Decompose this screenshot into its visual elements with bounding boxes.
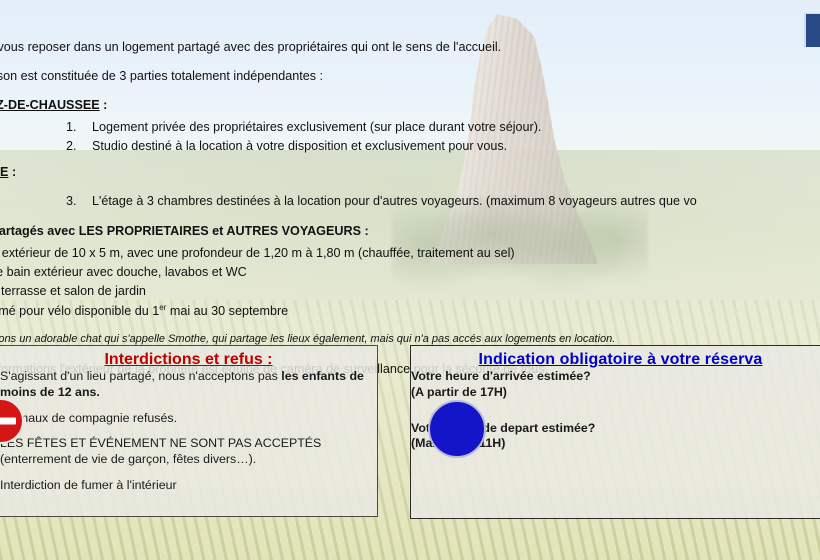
list-item-label: Interdiction de fumer à l'intérieur: [0, 478, 177, 492]
list-item: 3.L'étage à 3 chambres destinées à la lo…: [0, 194, 820, 213]
list-item-label: S'agissant d'un lieu partagé, nous n'acc…: [0, 369, 281, 383]
list-item-number: 1.: [66, 120, 92, 136]
ground-floor-heading-text: U REZ-DE-CHAUSSEE: [0, 98, 100, 112]
panel-interdictions: Interdictions et refus : S'agissant d'un…: [0, 345, 378, 517]
list-item-number: 2.: [66, 139, 92, 155]
list-item: Interdiction de fumer à l'intérieur: [0, 478, 377, 494]
body-copy: enez-vous reposer dans un logement parta…: [0, 40, 820, 384]
shared-item: iscine extérieur de 10 x 5 m, avec une p…: [0, 246, 820, 265]
upstairs-heading-colon: :: [8, 165, 16, 179]
panel-interdictions-title: Interdictions et refus :: [0, 346, 377, 369]
intro-line-2: a maison est constituée de 3 parties tot…: [0, 69, 820, 91]
shared-item-bike-shelter: bri fermé pour vélo disponible du 1er ma…: [0, 303, 820, 322]
panel-indication-title: Indication obligatoire à votre réserva: [411, 346, 820, 369]
shared-heading-strong: LES PROPRIETAIRES et AUTRES VOYAGEURS: [79, 224, 361, 238]
list-item: S'agissant d'un lieu partagé, nous n'acc…: [0, 369, 377, 401]
blue-circle-icon: [428, 400, 486, 458]
list-item-label: L'étage à 3 chambres destinées à la loca…: [92, 194, 697, 208]
list-item-label: Logement privée des propriétaires exclus…: [92, 120, 541, 134]
intro-line-1: enez-vous reposer dans un logement parta…: [0, 40, 820, 62]
slide-canvas: enez-vous reposer dans un logement parta…: [0, 0, 820, 560]
corner-accent-bar: [804, 13, 820, 47]
upstairs-heading: ETAGE :: [0, 165, 820, 187]
bike-shelter-pre: bri fermé pour vélo disponible du 1: [0, 304, 159, 318]
shared-heading-colon: :: [361, 224, 369, 238]
list-item: Animaux de compagnie refusés.: [0, 411, 377, 427]
list-item: Votre heure d'arrivée estimée? (A partir…: [411, 369, 820, 401]
shared-item: ardin, terrasse et salon de jardin: [0, 284, 820, 303]
shared-item: alle de bain extérieur avec douche, lava…: [0, 265, 820, 284]
ground-floor-heading-colon: :: [100, 98, 108, 112]
ground-floor-heading: U REZ-DE-CHAUSSEE :: [0, 98, 820, 120]
list-item-label: LES FÊTES ET ÉVÉNEMENT NE SONT PAS ACCEP…: [0, 436, 321, 466]
bike-shelter-post: mai au 30 septembre: [166, 304, 288, 318]
list-item-label: Studio destiné à la location à votre dis…: [92, 139, 507, 153]
shared-heading-prefix: eux partagés avec: [0, 224, 79, 238]
list-item-number: 3.: [66, 194, 92, 210]
list-item: 1.Logement privée des propriétaires excl…: [0, 120, 820, 139]
list-item-label: Animaux de compagnie refusés.: [0, 411, 177, 425]
list-item-subtext: (A partir de 17H): [411, 385, 507, 399]
shared-areas-heading: eux partagés avec LES PROPRIETAIRES et A…: [0, 224, 820, 246]
list-item-label: Votre heure d'arrivée estimée?: [411, 369, 591, 383]
interdictions-list: S'agissant d'un lieu partagé, nous n'acc…: [0, 369, 377, 494]
list-item: 2.Studio destiné à la location à votre d…: [0, 139, 820, 158]
list-item: LES FÊTES ET ÉVÉNEMENT NE SONT PAS ACCEP…: [0, 436, 377, 468]
